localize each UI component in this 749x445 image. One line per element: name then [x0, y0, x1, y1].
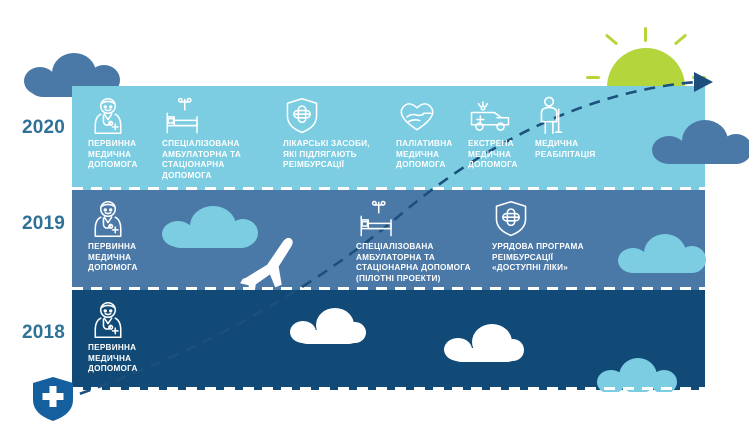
year-label-2020: 2020	[22, 117, 65, 139]
item-2019-0[interactable]: ПЕРВИННА МЕДИЧНА ДОПОМОГА	[88, 199, 160, 274]
band-separator-bottom	[72, 387, 705, 390]
cloud-top-right-dark	[648, 120, 749, 162]
year-label-2019: 2019	[22, 213, 65, 235]
hospital-bed-icon	[356, 199, 398, 239]
year-label-2018: 2018	[22, 322, 65, 344]
sun-ray-icon	[586, 76, 600, 79]
band-separator-2019-2018	[72, 287, 705, 290]
item-2020-2[interactable]: ЛІКАРСЬКІ ЗАСОБИ, ЯКІ ПІДЛЯГАЮТЬ РЕІМБУР…	[283, 96, 383, 171]
item-2020-3[interactable]: ПАЛІАТИВНА МЕДИЧНА ДОПОМОГА	[396, 96, 468, 171]
rehab-person-icon	[535, 96, 567, 136]
item-label: ПАЛІАТИВНА МЕДИЧНА ДОПОМОГА	[396, 139, 468, 171]
item-2020-0[interactable]: ПЕРВИННА МЕДИЧНА ДОПОМОГА	[88, 96, 160, 171]
doctor-icon	[88, 96, 128, 136]
sun-ray-icon	[674, 34, 687, 46]
item-label: ПЕРВИННА МЕДИЧНА ДОПОМОГА	[88, 343, 160, 375]
item-2020-5[interactable]: МЕДИЧНА РЕАБІЛІТАЦІЯ	[535, 96, 605, 160]
band-separator-2020-2019	[72, 187, 705, 190]
cloud-2019-right-light	[616, 234, 708, 272]
item-label: СПЕЦІАЛІЗОВАНА АМБУЛАТОРНА ТА СТАЦІОНАРН…	[162, 139, 274, 181]
infographic-canvas: ПЕРВИННА МЕДИЧНА ДОПОМОГА СПЕЦІАЛІЗОВАНА…	[0, 0, 749, 445]
item-2018-0[interactable]: ПЕРВИННА МЕДИЧНА ДОПОМОГА	[88, 300, 160, 375]
cloud-2018-right-white	[442, 324, 524, 362]
heart-hands-icon	[396, 96, 438, 136]
item-2020-4[interactable]: ЕКСТРЕНА МЕДИЧНА ДОПОМОГА	[468, 96, 534, 171]
doctor-icon	[88, 300, 128, 340]
item-label: УРЯДОВА ПРОГРАМА РЕІМБУРСАЦІЇ «ДОСТУПНІ …	[492, 242, 604, 274]
item-label: МЕДИЧНА РЕАБІЛІТАЦІЯ	[535, 139, 605, 160]
cloud-2018-left-white	[288, 308, 366, 344]
ambulance-icon	[468, 96, 512, 136]
item-2019-2[interactable]: УРЯДОВА ПРОГРАМА РЕІМБУРСАЦІЇ «ДОСТУПНІ …	[492, 199, 604, 274]
airplane-icon	[233, 238, 305, 290]
pill-shield-icon	[283, 96, 321, 136]
item-2020-1[interactable]: СПЕЦІАЛІЗОВАНА АМБУЛАТОРНА ТА СТАЦІОНАРН…	[162, 96, 274, 181]
item-label: СПЕЦІАЛІЗОВАНА АМБУЛАТОРНА ТА СТАЦІОНАРН…	[356, 242, 486, 284]
item-label: ПЕРВИННА МЕДИЧНА ДОПОМОГА	[88, 242, 160, 274]
doctor-icon	[88, 199, 128, 239]
hospital-bed-icon	[162, 96, 204, 136]
item-2019-1[interactable]: СПЕЦІАЛІЗОВАНА АМБУЛАТОРНА ТА СТАЦІОНАРН…	[356, 199, 486, 284]
sun-ray-icon	[605, 34, 618, 46]
sun-icon	[607, 48, 685, 87]
pill-shield-icon	[492, 199, 530, 239]
shield-cross-icon	[32, 376, 74, 422]
item-label: ЕКСТРЕНА МЕДИЧНА ДОПОМОГА	[468, 139, 534, 171]
arrow-head-icon	[694, 72, 713, 92]
item-label: ЛІКАРСЬКІ ЗАСОБИ, ЯКІ ПІДЛЯГАЮТЬ РЕІМБУР…	[283, 139, 383, 171]
item-label: ПЕРВИННА МЕДИЧНА ДОПОМОГА	[88, 139, 160, 171]
sun-ray-icon	[644, 27, 647, 42]
